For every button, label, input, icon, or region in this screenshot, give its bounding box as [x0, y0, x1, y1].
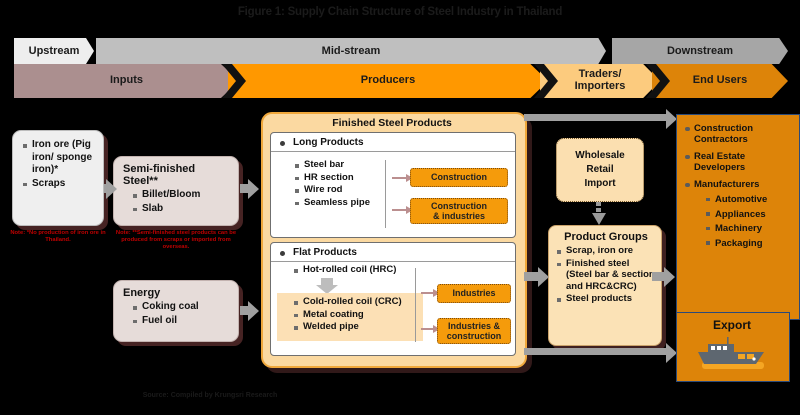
list-item: Manufacturers Automotive Appliances Mach… — [683, 179, 795, 249]
energy-title: Energy — [123, 287, 232, 299]
flow-arrow-producers-to-end-users-icon — [524, 114, 666, 121]
list-item: Fuel oil — [131, 315, 232, 328]
list-item: Finished steel (Steel bar & section and … — [555, 258, 657, 293]
product-groups-title: Product Groups — [555, 231, 657, 243]
arrow-long-to-construction-icon — [392, 177, 406, 179]
tag-industries-construction: Industries & construction — [437, 318, 511, 344]
end-users-list: Construction Contractors Real Estate Dev… — [683, 123, 795, 249]
energy-list: Coking coal Fuel oil — [123, 301, 232, 327]
stage-tab-downstream: Downstream — [612, 38, 788, 64]
tag-construction: Construction — [410, 168, 508, 187]
semi-finished-steel-box: Semi-finished Steel** Billet/Bloom Slab — [113, 156, 239, 226]
chevron-producers: Producers — [228, 64, 548, 98]
list-item: Appliances — [704, 209, 795, 221]
panel-title: Finished Steel Products — [261, 117, 523, 129]
list-item: Packaging — [704, 238, 795, 250]
tag-line2: & industries — [431, 211, 487, 222]
list-item: Automotive — [704, 194, 795, 206]
chevron-inputs: Inputs — [14, 64, 239, 98]
iron-ore-note: Note: *No production of iron ore in Thai… — [2, 230, 114, 244]
list-item: Coking coal — [131, 301, 232, 314]
cargo-ship-icon — [694, 336, 772, 372]
list-item: Cold-rolled coil (CRC) — [292, 296, 420, 308]
flow-arrow-semi-to-producers-icon — [240, 184, 248, 193]
energy-box: Energy Coking coal Fuel oil — [113, 280, 239, 342]
flow-arrow-producers-to-groups-icon — [524, 272, 538, 281]
list-item: Real Estate Developers — [683, 151, 795, 173]
flat-products-heading: Flat Products — [271, 243, 515, 262]
down-arrow-hrc-to-crc-icon — [316, 278, 338, 294]
list-item: Slab — [131, 203, 232, 216]
flow-arrow-producers-to-export-icon — [524, 348, 666, 355]
tag-line2: construction — [447, 331, 502, 342]
list-item: Metal coating — [292, 309, 420, 321]
manufacturer-sublist: Automotive Appliances Machinery Packagin… — [694, 194, 795, 249]
wholesale-line2: Retail — [575, 163, 624, 177]
flat-products-secondary-list: Cold-rolled coil (CRC) Metal coating Wel… — [292, 296, 420, 334]
tag-industries: Industries — [437, 284, 511, 303]
arrow-long-to-construction-industries-icon — [392, 209, 406, 211]
list-item: Billet/Bloom — [131, 189, 232, 202]
list-item-label: Manufacturers — [694, 179, 759, 190]
flow-arrow-ore-to-semi-icon — [104, 184, 106, 193]
arrow-flat-to-industries-icon — [421, 292, 433, 294]
source-note: Source: Compiled by Krungsri Research — [0, 392, 420, 399]
list-item: Machinery — [704, 223, 795, 235]
wholesale-line3: Import — [575, 177, 624, 191]
list-item: Steel products — [555, 293, 657, 305]
flow-arrow-groups-to-end-users-icon — [652, 272, 664, 281]
long-products-heading-label: Long Products — [293, 137, 364, 148]
export-label: Export — [676, 318, 788, 332]
figure-title: Figure 1: Supply Chain Structure of Stee… — [0, 6, 800, 18]
list-item: Construction Contractors — [683, 123, 795, 145]
long-products-divider — [385, 160, 386, 228]
long-products-heading: Long Products — [271, 133, 515, 152]
tag-line1: Construction — [431, 201, 487, 212]
product-groups-list: Scrap, iron ore Finished steel (Steel ba… — [555, 245, 657, 305]
arrow-flat-to-industries-construction-icon — [421, 328, 433, 330]
chevron-traders-line2: Importers — [575, 81, 626, 93]
chevron-end-users: End Users — [652, 64, 788, 98]
iron-ore-box: Iron ore (Pig iron/ sponge iron)* Scraps — [12, 130, 104, 226]
list-item: Welded pipe — [292, 321, 420, 333]
flow-arrow-energy-to-producers-icon — [240, 306, 248, 315]
list-item: Iron ore (Pig iron/ sponge iron)* — [21, 139, 97, 177]
end-users-box: Construction Contractors Real Estate Dev… — [676, 114, 800, 320]
chevron-separator-icon-1 — [222, 64, 246, 98]
semi-finished-note: Note: **Semi-finished steel products can… — [108, 230, 244, 251]
tag-construction-industries: Construction & industries — [410, 198, 508, 224]
chevron-separator-icon-3 — [646, 64, 670, 98]
stage-tab-midstream: Mid-stream — [96, 38, 606, 64]
chevron-traders-importers: Traders/ Importers — [540, 64, 660, 98]
list-item: Scraps — [21, 178, 97, 191]
stage-tab-upstream: Upstream — [14, 38, 94, 64]
product-groups-box: Product Groups Scrap, iron ore Finished … — [548, 225, 662, 346]
wholesale-retail-import-box: Wholesale Retail Import — [556, 138, 644, 202]
down-arrow-wholesale-to-groups-icon — [590, 202, 608, 226]
chevron-separator-icon-2 — [534, 64, 558, 98]
list-item: Hot-rolled coil (HRC) — [292, 264, 420, 276]
semi-finished-list: Billet/Bloom Slab — [123, 189, 232, 215]
list-item: Scrap, iron ore — [555, 245, 657, 257]
iron-ore-list: Iron ore (Pig iron/ sponge iron)* Scraps — [21, 139, 97, 190]
flat-products-heading-label: Flat Products — [293, 247, 357, 258]
flat-products-primary-list: Hot-rolled coil (HRC) — [292, 264, 420, 277]
tag-line1: Industries & — [447, 321, 502, 332]
flat-products-divider — [415, 268, 416, 342]
semi-finished-title: Semi-finished Steel** — [123, 163, 232, 187]
wholesale-line1: Wholesale — [575, 149, 624, 163]
